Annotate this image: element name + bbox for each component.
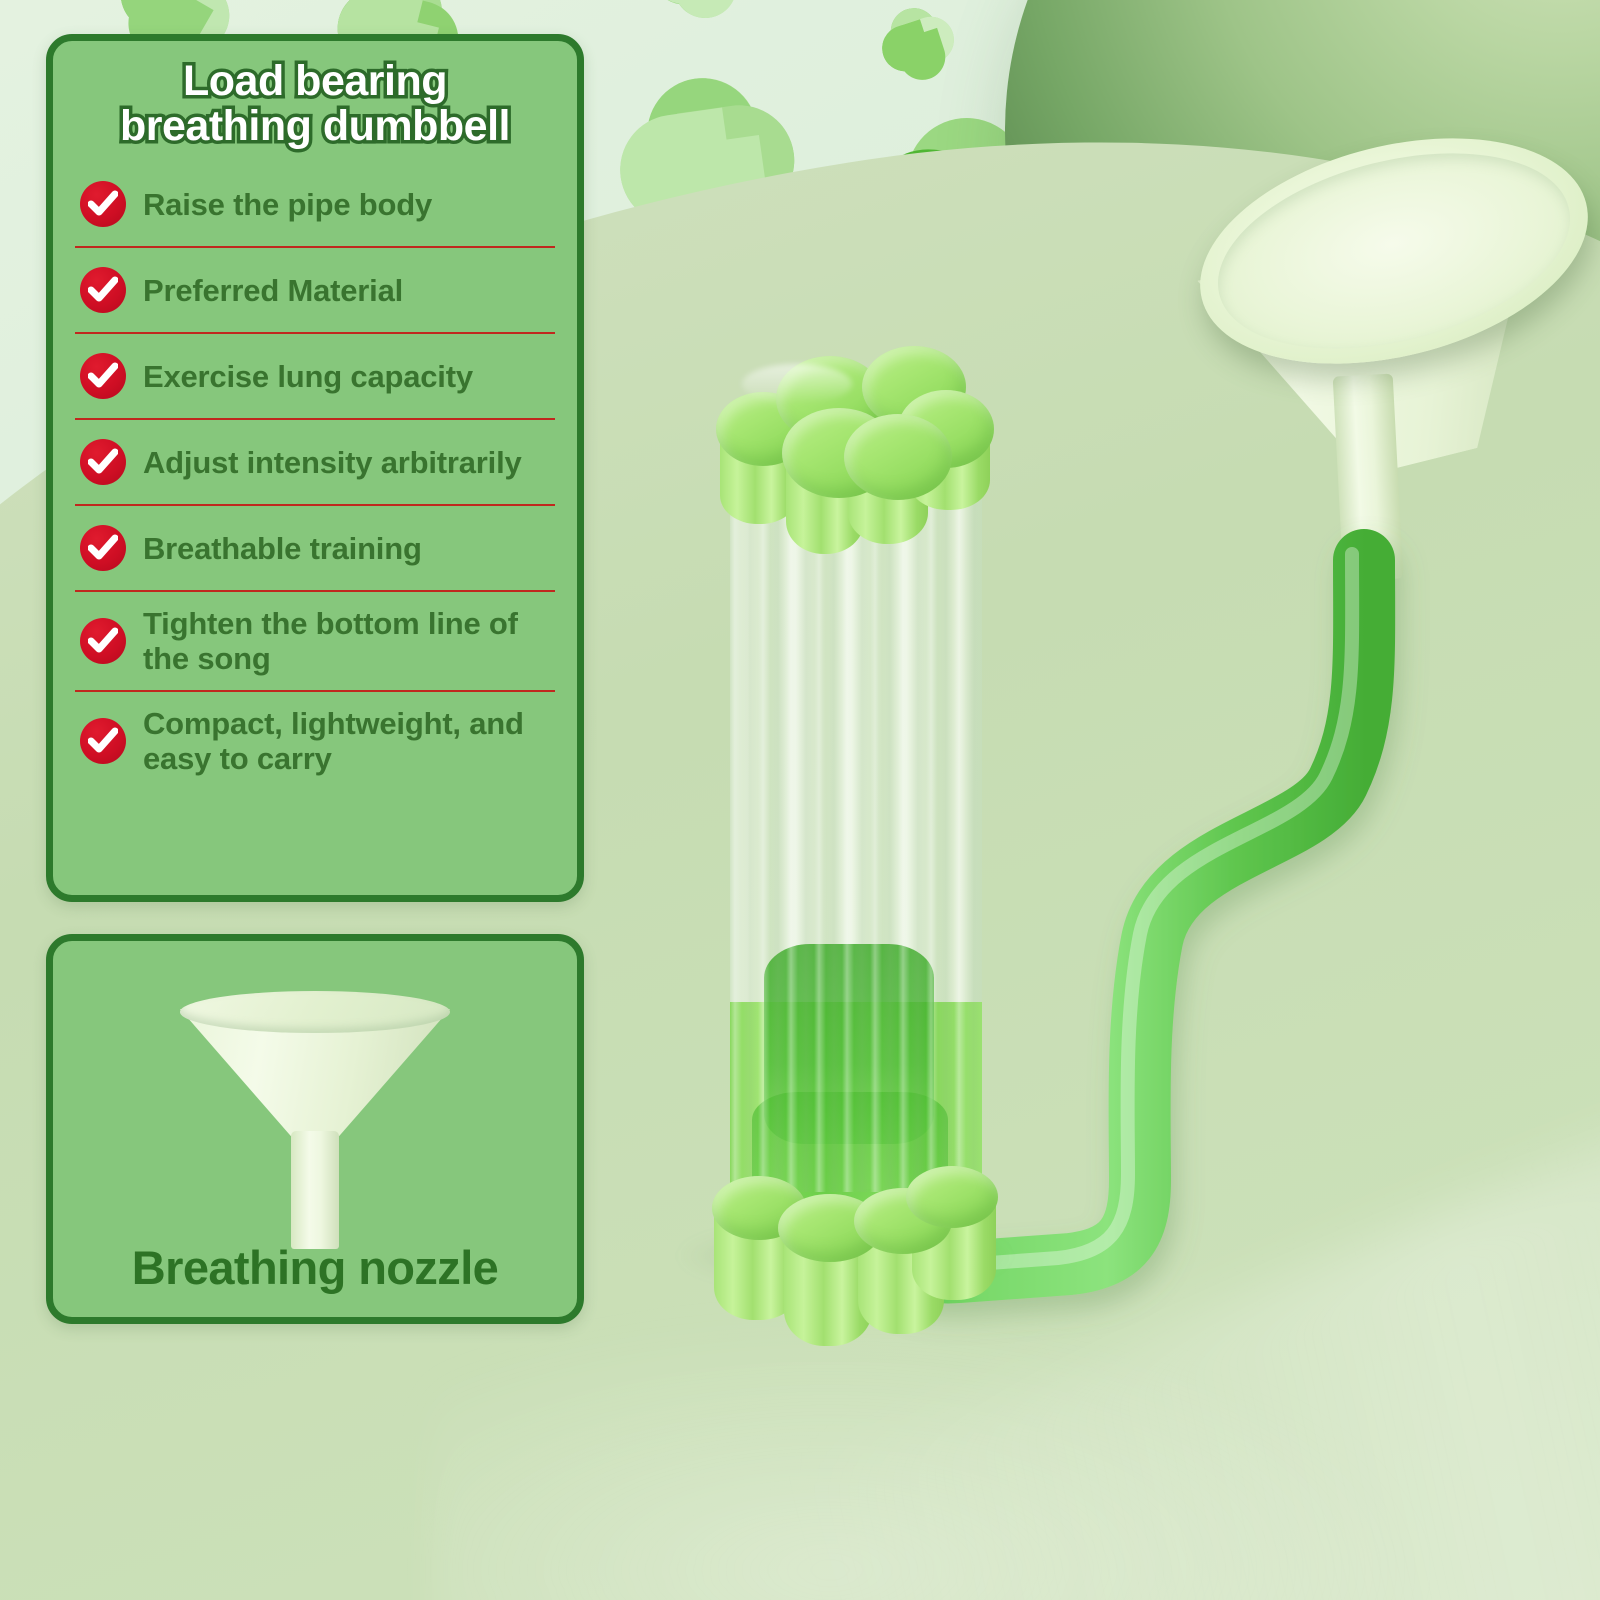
check-icon bbox=[80, 618, 126, 664]
feature-item[interactable]: Tighten the bottom line of the song bbox=[75, 592, 555, 692]
nozzle-rim bbox=[180, 991, 450, 1033]
feature-label: Tighten the bottom line of the song bbox=[143, 606, 555, 676]
product-infographic: Load bearing breathing dumbbell Raise th… bbox=[0, 0, 1600, 1600]
breathing-tube-assembly bbox=[712, 352, 998, 1282]
feature-list: Raise the pipe body Preferred Material E… bbox=[75, 162, 555, 790]
title-line-2: breathing dumbbell bbox=[69, 104, 561, 149]
feature-label: Preferred Material bbox=[143, 273, 403, 308]
feature-item[interactable]: Exercise lung capacity bbox=[75, 334, 555, 420]
tube-cap-bottom bbox=[712, 1142, 998, 1322]
nozzle-card-label: Breathing nozzle bbox=[53, 1240, 577, 1295]
feature-item[interactable]: Breathable training bbox=[75, 506, 555, 592]
check-icon bbox=[80, 181, 126, 227]
check-icon bbox=[80, 525, 126, 571]
feature-item[interactable]: Adjust intensity arbitrarily bbox=[75, 420, 555, 506]
check-icon bbox=[80, 353, 126, 399]
feature-item[interactable]: Preferred Material bbox=[75, 248, 555, 334]
feature-label: Exercise lung capacity bbox=[143, 359, 473, 394]
title-line-1: Load bearing bbox=[69, 59, 561, 104]
nozzle-illustration bbox=[180, 983, 450, 1233]
nozzle-stem bbox=[291, 1131, 339, 1249]
feature-item[interactable]: Raise the pipe body bbox=[75, 162, 555, 248]
breathing-nozzle-card: Breathing nozzle bbox=[46, 934, 584, 1324]
floor-highlight-secondary bbox=[430, 1310, 1430, 1600]
feature-label: Compact, lightweight, and easy to carry bbox=[143, 706, 555, 776]
tube-cap-top bbox=[712, 352, 998, 532]
features-card-title: Load bearing breathing dumbbell bbox=[53, 41, 577, 152]
check-icon bbox=[80, 267, 126, 313]
check-icon bbox=[80, 718, 126, 764]
feature-label: Raise the pipe body bbox=[143, 187, 432, 222]
feature-label: Breathable training bbox=[143, 531, 422, 566]
features-card: Load bearing breathing dumbbell Raise th… bbox=[46, 34, 584, 902]
feature-label: Adjust intensity arbitrarily bbox=[143, 445, 522, 480]
feature-item[interactable]: Compact, lightweight, and easy to carry bbox=[75, 692, 555, 790]
check-icon bbox=[80, 439, 126, 485]
